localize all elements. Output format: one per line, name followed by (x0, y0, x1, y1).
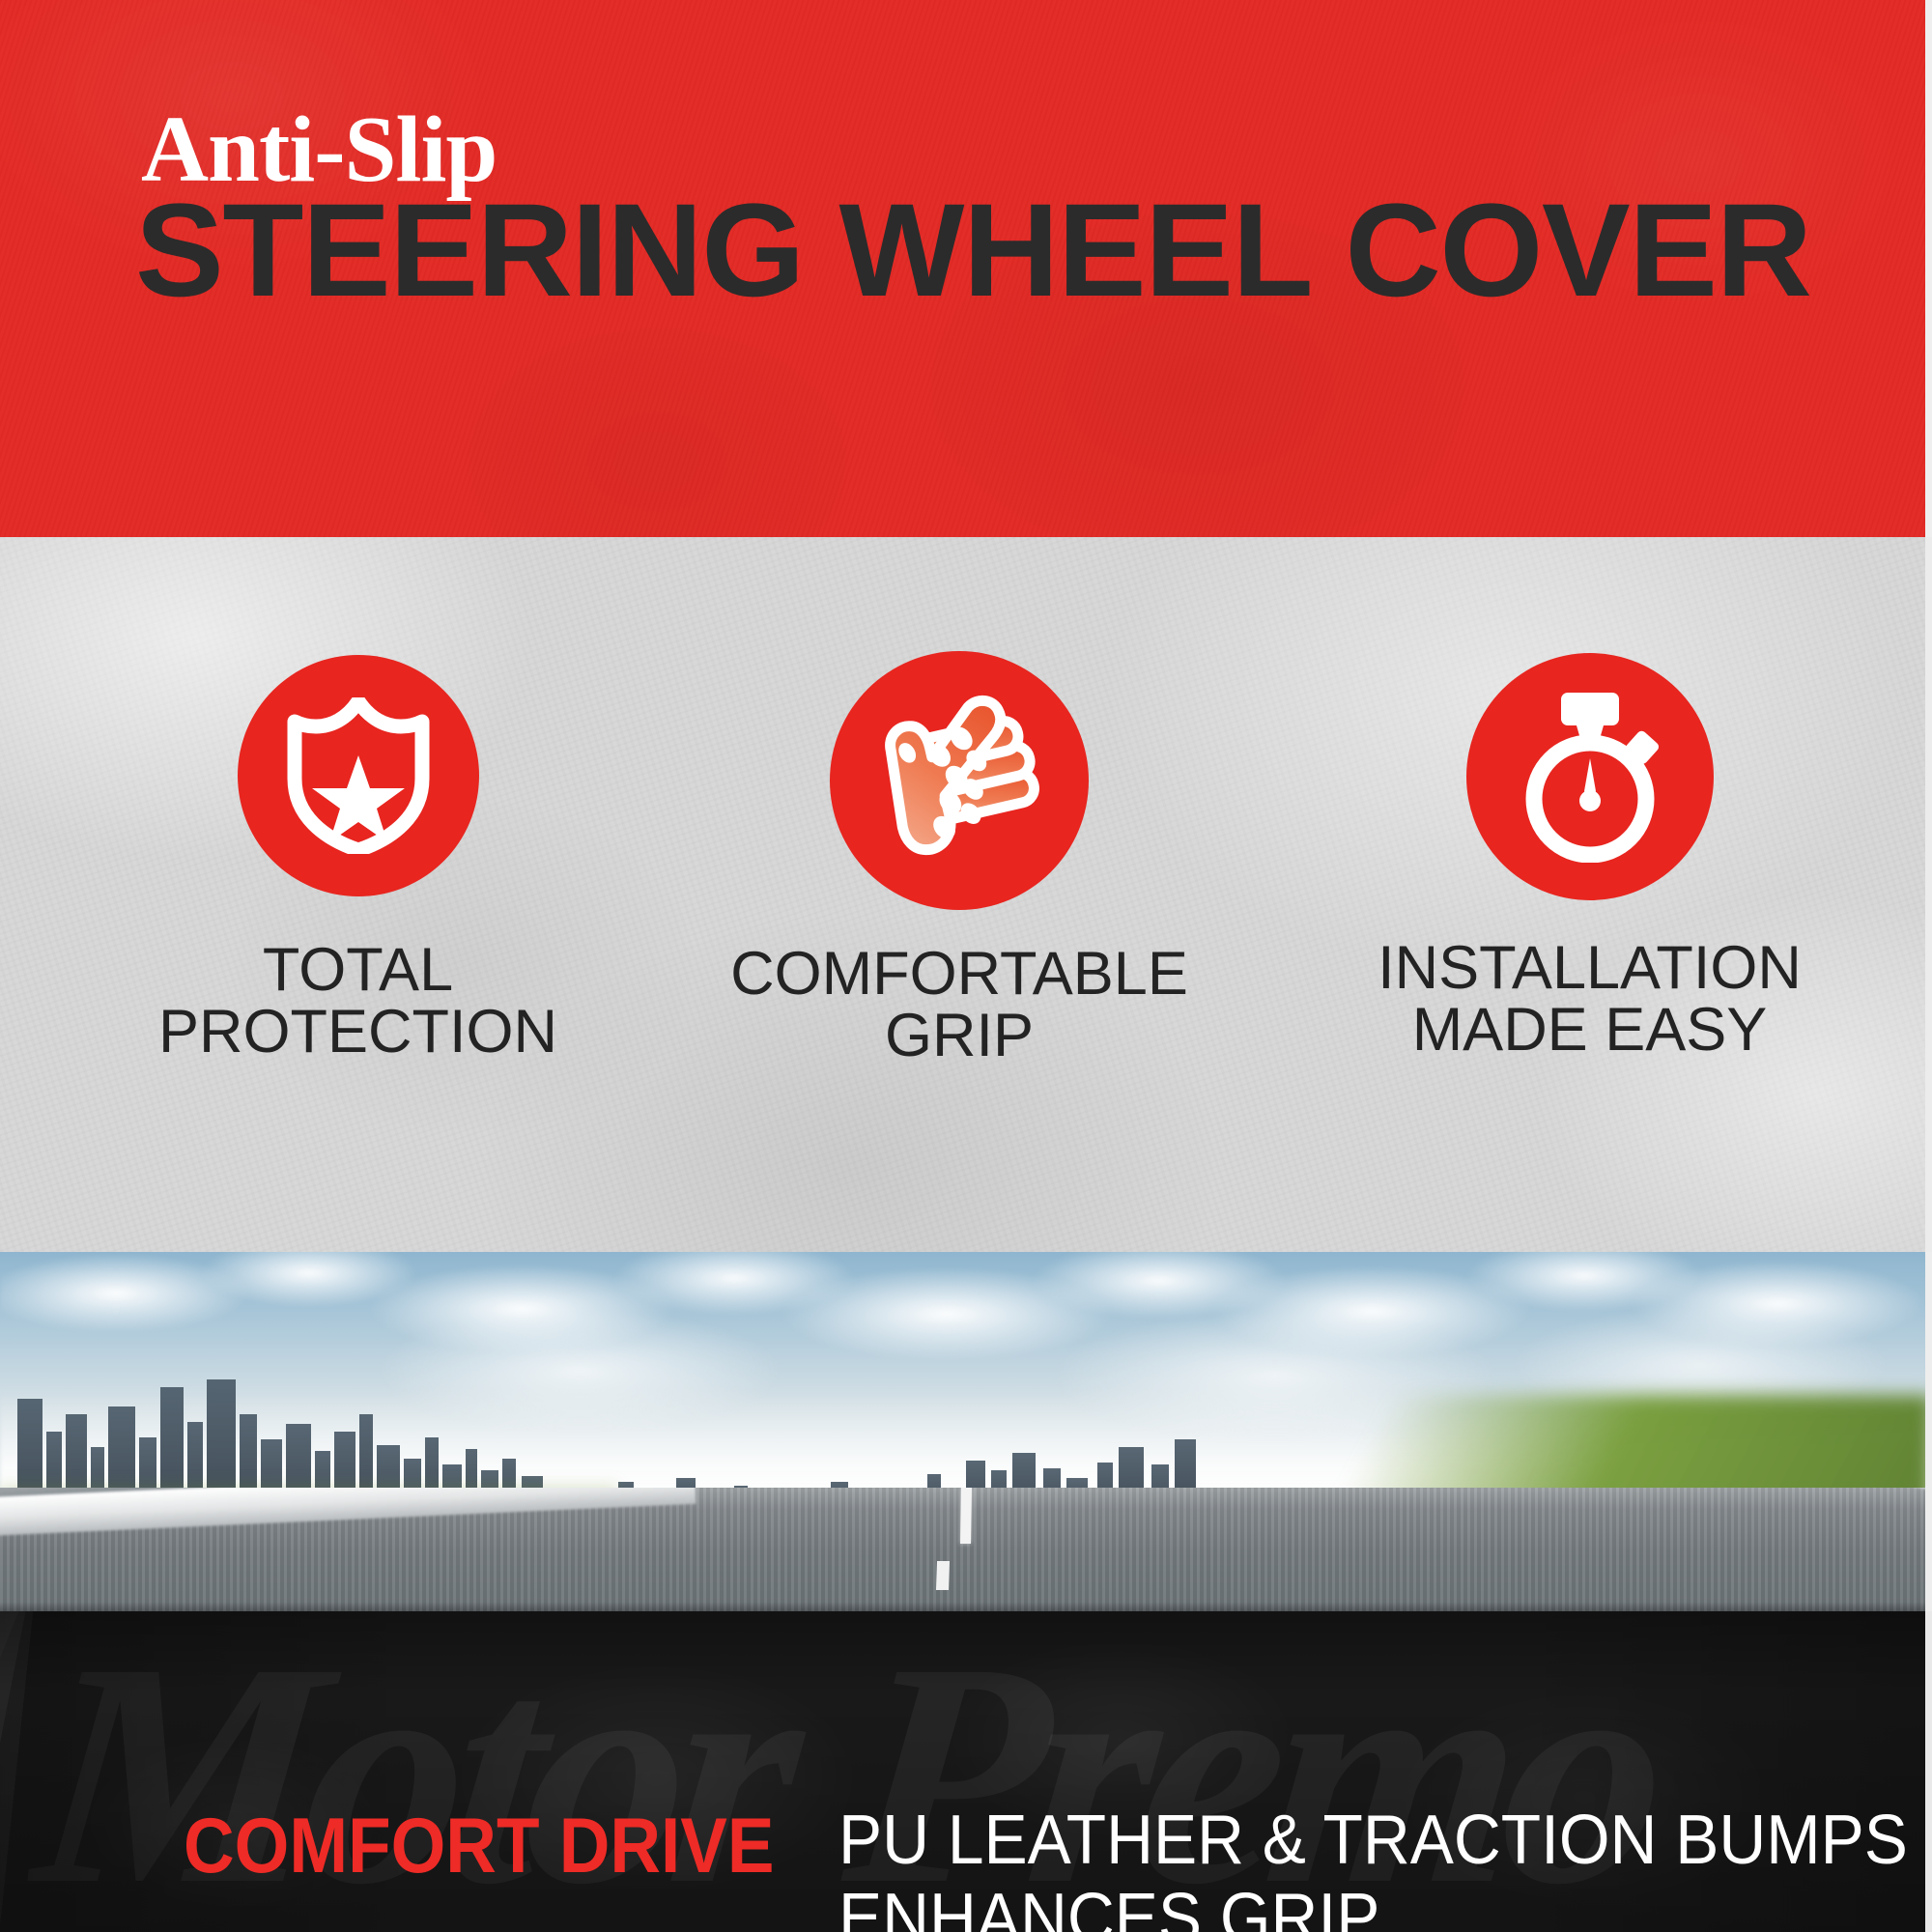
feature-label-3-line2: MADE EASY (1312, 999, 1867, 1061)
feature-label-2: COMFORTABLE GRIP (698, 943, 1220, 1067)
feature-label-2-line1: COMFORTABLE (730, 940, 1188, 1008)
stopwatch-icon (1509, 691, 1671, 863)
photo-right-edge (1925, 1252, 1932, 1611)
features-band: TOTAL PROTECTION (0, 537, 1932, 1252)
footer-subcopy: PU LEATHER & TRACTION BUMPS ENHANCES GRI… (838, 1802, 1908, 1932)
header-right-edge (1925, 0, 1932, 537)
feature-list: TOTAL PROTECTION (0, 537, 1932, 1252)
features-right-edge (1925, 537, 1932, 1252)
feature-badge-2 (830, 651, 1089, 910)
page-title: STEERING WHEEL COVER (135, 185, 1810, 317)
feature-item-installation-made-easy: INSTALLATION MADE EASY (1312, 537, 1867, 1062)
product-infographic-poster: Anti-Slip STEERING WHEEL COVER (0, 0, 1932, 1932)
feature-badge-1 (238, 655, 479, 896)
footer-right-edge (1925, 1611, 1932, 1932)
footer-kicker: COMFORT DRIVE (184, 1807, 775, 1886)
grip-palm-icon (870, 692, 1048, 869)
feature-item-total-protection: TOTAL PROTECTION (133, 537, 582, 1064)
feature-label-1-line2: PROTECTION (133, 1001, 582, 1063)
lane-dash-2 (936, 1561, 950, 1590)
feature-label-2-line2: GRIP (698, 1005, 1220, 1066)
feature-item-comfortable-grip: COMFORTABLE GRIP (698, 537, 1220, 1067)
feature-badge-3 (1466, 653, 1714, 900)
lane-dash-1 (960, 1488, 972, 1544)
photo-bottom-shadow (0, 1602, 1932, 1611)
feature-label-3-line1: INSTALLATION (1378, 934, 1802, 1002)
shield-star-icon (287, 697, 430, 854)
footer-subcopy-line2: ENHANCES GRIP (838, 1880, 1908, 1932)
hero-road-photo (0, 1252, 1932, 1611)
footer-subcopy-line1: PU LEATHER & TRACTION BUMPS (838, 1802, 1908, 1879)
road-surface (0, 1488, 1932, 1611)
footer-band: Motor Premo COMFORT DRIVE PU LEATHER & T… (0, 1611, 1932, 1932)
feature-label-1: TOTAL PROTECTION (133, 939, 582, 1064)
header-band: Anti-Slip STEERING WHEEL COVER (0, 0, 1932, 537)
feature-label-3: INSTALLATION MADE EASY (1312, 937, 1867, 1062)
footer-content-row: COMFORT DRIVE PU LEATHER & TRACTION BUMP… (0, 1611, 1932, 1932)
feature-label-1-line1: TOTAL (263, 936, 453, 1004)
